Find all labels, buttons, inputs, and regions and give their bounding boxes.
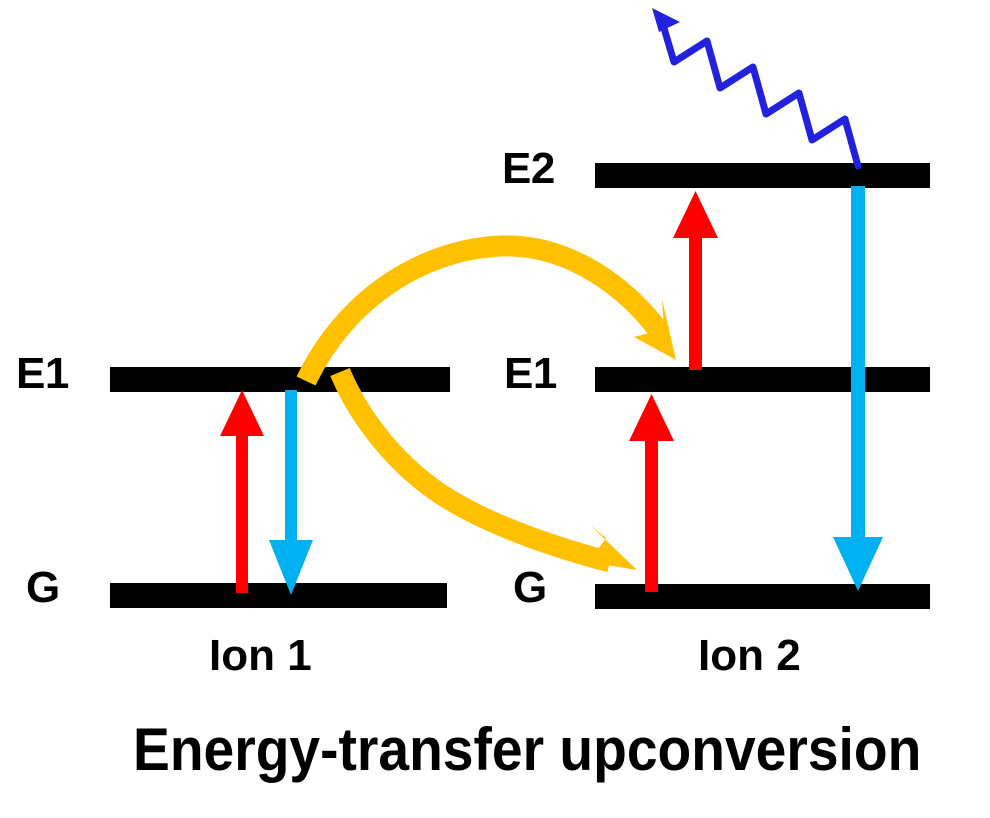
energy-level-bar-e1-ion2 (595, 367, 930, 392)
ion-label-2: Ion 2 (698, 634, 801, 678)
absorption-arrow-ion1 (220, 390, 264, 593)
level-label-e1-ion1: E1 (16, 352, 69, 396)
diagram-canvas (0, 0, 990, 818)
diagram-caption: Energy-transfer upconversion (133, 720, 921, 780)
level-label-e1-ion2: E1 (504, 352, 557, 396)
level-label-e2-ion2: E2 (502, 147, 555, 191)
energy-level-bar-g-ion1 (110, 583, 447, 608)
energy-release-arrow-ion1 (269, 390, 313, 595)
emitted-photon-wave (652, 8, 858, 166)
energy-level-diagram: E1 G E2 E1 G Ion 1 Ion 2 Energy-transfer… (0, 0, 990, 818)
energy-level-bar-e1-ion1 (110, 367, 450, 392)
absorption-arrow-excited-ion2 (673, 191, 718, 370)
energy-level-bar-e2-ion2 (595, 163, 930, 188)
energy-transfer-arrow-upper (306, 246, 676, 381)
absorption-arrow-ground-ion2 (629, 394, 674, 592)
ion-label-1: Ion 1 (209, 634, 312, 678)
level-label-g-ion1: G (26, 566, 60, 610)
energy-transfer-arrow-lower (340, 372, 637, 570)
level-label-g-ion2: G (513, 566, 547, 610)
